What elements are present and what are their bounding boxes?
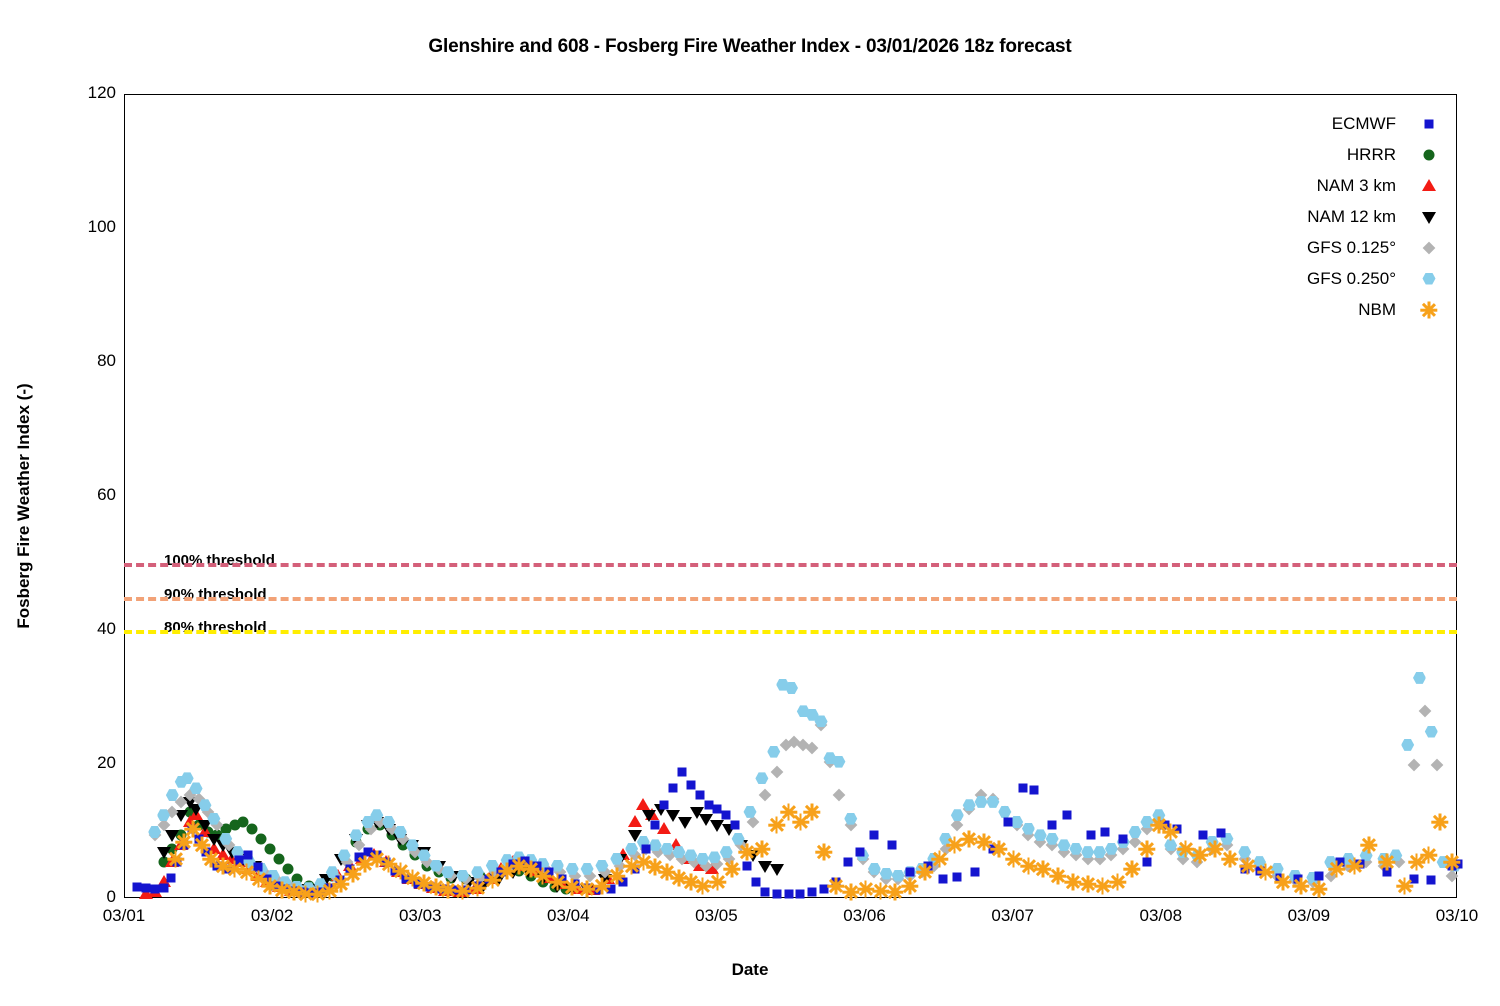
legend-item-nbm[interactable]: NBM	[1150, 294, 1440, 325]
asterisk-marker	[262, 877, 279, 894]
legend-item-gfs-0-250[interactable]: GFS 0.250°	[1150, 263, 1440, 294]
triangle-up-marker	[1422, 179, 1436, 191]
asterisk-marker	[185, 820, 202, 837]
asterisk-marker	[1310, 880, 1327, 897]
threshold-line	[124, 597, 1457, 601]
asterisk-marker	[1378, 854, 1395, 871]
y-tick-label: 100	[46, 217, 116, 237]
asterisk-marker	[780, 803, 797, 820]
x-axis-label: Date	[0, 960, 1500, 980]
chart-legend: ECMWFHRRRNAM 3 kmNAM 12 kmGFS 0.125°GFS …	[1150, 108, 1440, 325]
asterisk-marker	[392, 862, 409, 879]
y-tick-label: 60	[46, 485, 116, 505]
asterisk-marker	[534, 867, 551, 884]
asterisk-marker	[682, 874, 699, 891]
legend-label: HRRR	[1150, 145, 1418, 165]
asterisk-marker	[1408, 854, 1425, 871]
asterisk-marker	[226, 860, 243, 877]
x-tick-label: 03/06	[805, 906, 925, 926]
asterisk-marker	[1138, 840, 1155, 857]
asterisk-marker	[1207, 840, 1224, 857]
asterisk-marker	[1109, 874, 1126, 891]
x-tick-label: 03/05	[656, 906, 776, 926]
x-tick-label: 03/09	[1249, 906, 1369, 926]
chart-title: Glenshire and 608 - Fosberg Fire Weather…	[0, 36, 1500, 58]
asterisk-marker	[1293, 877, 1310, 894]
asterisk-marker	[827, 877, 844, 894]
y-tick-label: 40	[46, 619, 116, 639]
asterisk-marker	[380, 856, 397, 873]
asterisk-marker	[1432, 813, 1449, 830]
asterisk-marker	[297, 885, 314, 902]
asterisk-marker	[202, 850, 219, 867]
asterisk-marker	[1177, 840, 1194, 857]
asterisk-marker	[1257, 864, 1274, 881]
y-tick-label: 20	[46, 753, 116, 773]
threshold-line	[124, 563, 1457, 567]
legend-triangle-down-icon	[1418, 206, 1440, 228]
y-tick-label: 0	[46, 887, 116, 907]
asterisk-marker	[194, 837, 211, 854]
asterisk-marker	[1124, 860, 1141, 877]
asterisk-marker	[404, 869, 421, 886]
legend-label: ECMWF	[1150, 114, 1418, 134]
legend-label: NBM	[1150, 300, 1418, 320]
asterisk-marker	[659, 864, 676, 881]
asterisk-marker	[510, 857, 527, 874]
threshold-line	[124, 630, 1457, 634]
asterisk-marker	[901, 877, 918, 894]
asterisk-marker	[670, 869, 687, 886]
asterisk-marker	[176, 834, 193, 851]
asterisk-marker	[792, 813, 809, 830]
x-tick-label: 03/10	[1397, 906, 1500, 926]
asterisk-marker	[1275, 874, 1292, 891]
asterisk-marker	[428, 878, 445, 895]
asterisk-marker	[1050, 867, 1067, 884]
asterisk-marker	[1020, 857, 1037, 874]
asterisk-marker	[1005, 850, 1022, 867]
asterisk-marker	[635, 854, 652, 871]
chart-page: Glenshire and 608 - Fosberg Fire Weather…	[0, 0, 1500, 1000]
asterisk-marker	[976, 834, 993, 851]
y-tick-label: 120	[46, 83, 116, 103]
asterisk-marker	[273, 881, 290, 898]
legend-diamond-icon	[1418, 237, 1440, 259]
legend-label: NAM 12 km	[1150, 207, 1418, 227]
x-tick-label: 03/01	[64, 906, 184, 926]
asterisk-marker	[1192, 847, 1209, 864]
asterisk-marker	[439, 881, 456, 898]
asterisk-marker	[167, 850, 184, 867]
asterisk-marker	[1239, 857, 1256, 874]
asterisk-marker	[214, 857, 231, 874]
legend-item-hrrr[interactable]: HRRR	[1150, 139, 1440, 170]
asterisk-marker	[768, 817, 785, 834]
asterisk-marker	[1444, 854, 1461, 871]
asterisk-marker	[522, 860, 539, 877]
y-tick-label: 80	[46, 351, 116, 371]
asterisk-marker	[1346, 857, 1363, 874]
asterisk-marker	[623, 857, 640, 874]
diamond-marker	[1423, 241, 1436, 254]
asterisk-marker	[368, 850, 385, 867]
asterisk-marker	[647, 858, 664, 875]
asterisk-marker	[250, 870, 267, 887]
legend-label: GFS 0.250°	[1150, 269, 1418, 289]
asterisk-marker	[345, 865, 362, 882]
legend-item-nam-12-km[interactable]: NAM 12 km	[1150, 201, 1440, 232]
asterisk-marker	[416, 874, 433, 891]
x-tick-label: 03/02	[212, 906, 332, 926]
asterisk-marker	[694, 877, 711, 894]
square-marker	[1425, 119, 1434, 128]
x-tick-label: 03/04	[508, 906, 628, 926]
asterisk-marker	[990, 840, 1007, 857]
asterisk-marker	[816, 844, 833, 861]
asterisk-marker	[454, 882, 471, 899]
asterisk-marker	[872, 882, 889, 899]
asterisk-marker	[238, 864, 255, 881]
asterisk-marker	[1361, 837, 1378, 854]
asterisk-marker	[549, 874, 566, 891]
asterisk-marker	[931, 850, 948, 867]
legend-label: NAM 3 km	[1150, 176, 1418, 196]
legend-asterisk-icon	[1418, 299, 1440, 321]
asterisk-marker	[753, 840, 770, 857]
asterisk-marker	[484, 872, 501, 889]
asterisk-marker	[961, 830, 978, 847]
legend-hexagon-icon	[1418, 268, 1440, 290]
hexagon-marker	[1423, 273, 1436, 285]
asterisk-marker	[1035, 860, 1052, 877]
x-tick-label: 03/03	[360, 906, 480, 926]
asterisk-marker	[1094, 877, 1111, 894]
asterisk-marker	[916, 864, 933, 881]
asterisk-marker	[739, 844, 756, 861]
asterisk-marker	[724, 860, 741, 877]
asterisk-marker	[356, 856, 373, 873]
y-axis-label: Fosberg Fire Weather Index (-)	[14, 6, 34, 1006]
legend-triangle-up-icon	[1418, 175, 1440, 197]
asterisk-marker	[842, 884, 859, 901]
asterisk-marker	[887, 884, 904, 901]
asterisk-marker	[564, 878, 581, 895]
asterisk-marker	[321, 882, 338, 899]
asterisk-marker	[709, 874, 726, 891]
asterisk-marker	[1396, 877, 1413, 894]
asterisk-marker	[1328, 860, 1345, 877]
legend-label: GFS 0.125°	[1150, 238, 1418, 258]
legend-circle-icon	[1418, 144, 1440, 166]
asterisk-marker	[1162, 824, 1179, 841]
asterisk-marker	[579, 880, 596, 897]
asterisk-marker	[1421, 301, 1438, 318]
legend-square-icon	[1418, 113, 1440, 135]
legend-item-gfs-0-125[interactable]: GFS 0.125°	[1150, 232, 1440, 263]
asterisk-marker	[285, 884, 302, 901]
asterisk-marker	[608, 867, 625, 884]
asterisk-marker	[804, 803, 821, 820]
circle-marker	[1424, 149, 1435, 160]
triangle-down-marker	[1422, 212, 1436, 224]
asterisk-marker	[593, 877, 610, 894]
asterisk-marker	[1420, 847, 1437, 864]
legend-item-nam-3-km[interactable]: NAM 3 km	[1150, 170, 1440, 201]
x-tick-label: 03/07	[953, 906, 1073, 926]
asterisk-marker	[1064, 874, 1081, 891]
asterisk-marker	[1221, 850, 1238, 867]
asterisk-marker	[1079, 876, 1096, 893]
asterisk-marker	[333, 876, 350, 893]
asterisk-marker	[469, 880, 486, 897]
asterisk-marker	[309, 885, 326, 902]
asterisk-marker	[946, 837, 963, 854]
asterisk-marker	[499, 862, 516, 879]
asterisk-marker	[1150, 817, 1167, 834]
x-tick-label: 03/08	[1101, 906, 1221, 926]
asterisk-marker	[857, 880, 874, 897]
legend-item-ecmwf[interactable]: ECMWF	[1150, 108, 1440, 139]
